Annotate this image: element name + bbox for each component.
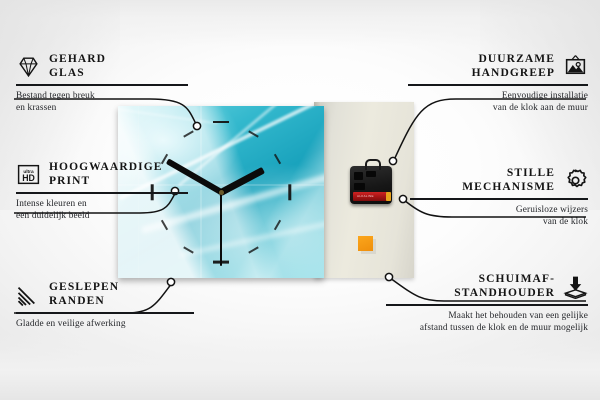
product-infographic: ALKALINE <box>0 0 600 400</box>
battery-positive-terminal <box>386 192 391 201</box>
feature-rule <box>410 198 588 200</box>
hour-tick <box>289 184 292 200</box>
feature-rule <box>408 84 588 86</box>
gear-icon <box>563 168 588 193</box>
feature-title-line1: HOOGWAARDIGE <box>49 160 163 174</box>
mechanism-recess-a <box>354 172 363 180</box>
hanger-hook-icon <box>365 159 381 170</box>
hour-hand <box>219 166 265 195</box>
feature-title-line1: DUURZAME <box>472 52 555 66</box>
feature-title-line1: SCHUIMAF- <box>454 272 555 286</box>
feature-title-line1: STILLE <box>462 166 555 180</box>
beveled-edges-icon <box>16 282 41 307</box>
mechanism-recess-c <box>354 183 365 190</box>
feature-rule <box>16 192 188 194</box>
hour-tick <box>213 121 229 124</box>
mechanism-recess-b <box>366 171 376 177</box>
feature-title-line2: GLAS <box>49 66 106 80</box>
feature-sub-line2: een duidelijk beeld <box>16 210 188 222</box>
feature-sub-line1: Gladde en veilige afwerking <box>16 318 194 330</box>
hour-tick <box>183 131 194 138</box>
feature-sub-line2: afstand tussen de klok en de muur mogeli… <box>386 322 588 334</box>
ultra-hd-icon-large-text: HD <box>22 172 35 182</box>
feature-title-line2: PRINT <box>49 174 163 188</box>
second-hand <box>220 192 222 266</box>
feature-gehard-glas: GEHARD GLAS Bestand tegen breuk en krass… <box>16 52 188 114</box>
aa-battery: ALKALINE <box>353 192 389 201</box>
hour-tick <box>274 220 281 231</box>
feature-sub-line1: Eenvoudige installatie <box>408 90 588 102</box>
feature-title-line2: MECHANISME <box>462 180 555 194</box>
ultra-hd-icon: ultra HD <box>16 162 41 187</box>
feature-hoogwaardige-print: ultra HD HOOGWAARDIGE PRINT Intense kleu… <box>16 160 188 222</box>
feature-rule <box>16 84 188 86</box>
feature-title-line1: GEHARD <box>49 52 106 66</box>
feature-sub-line1: Geruisloze wijzers <box>410 204 588 216</box>
center-pin <box>219 190 224 195</box>
feature-sub-line1: Maakt het behouden van een gelijke <box>386 310 588 322</box>
feature-sub-line1: Bestand tegen breuk <box>16 90 188 102</box>
battery-label: ALKALINE <box>357 194 374 198</box>
diamond-icon <box>16 54 41 79</box>
feature-sub-line2: en krassen <box>16 102 188 114</box>
feature-title-line2: STANDHOUDER <box>454 286 555 300</box>
picture-frame-icon <box>563 54 588 79</box>
feature-geslepen-randen: GESLEPEN RANDEN Gladde en veilige afwerk… <box>16 280 194 330</box>
feature-sub-line2: van de klok aan de muur <box>408 102 588 114</box>
feature-rule <box>16 312 194 314</box>
feature-sub-line2: van de klok <box>410 216 588 228</box>
clock-mechanism: ALKALINE <box>350 166 392 204</box>
feature-stille-mechanisme: STILLE MECHANISME Geruisloze wijzers van… <box>410 166 588 228</box>
feature-rule <box>386 304 588 306</box>
foam-spacer-pad <box>358 236 373 251</box>
feature-sub-line1: Intense kleuren en <box>16 198 188 210</box>
feature-title-line1: GESLEPEN <box>49 280 119 294</box>
hour-tick <box>249 246 260 253</box>
spacer-stamp-icon <box>563 274 588 299</box>
feature-schuimafstandhouder: SCHUIMAF- STANDHOUDER Maakt het behouden… <box>386 272 588 334</box>
feature-title-line2: HANDGREEP <box>472 66 555 80</box>
feature-title-line2: RANDEN <box>49 294 119 308</box>
hour-tick <box>274 154 281 165</box>
feature-duurzame-handgreep: DUURZAME HANDGREEP Eenvoudige installati… <box>408 52 588 114</box>
